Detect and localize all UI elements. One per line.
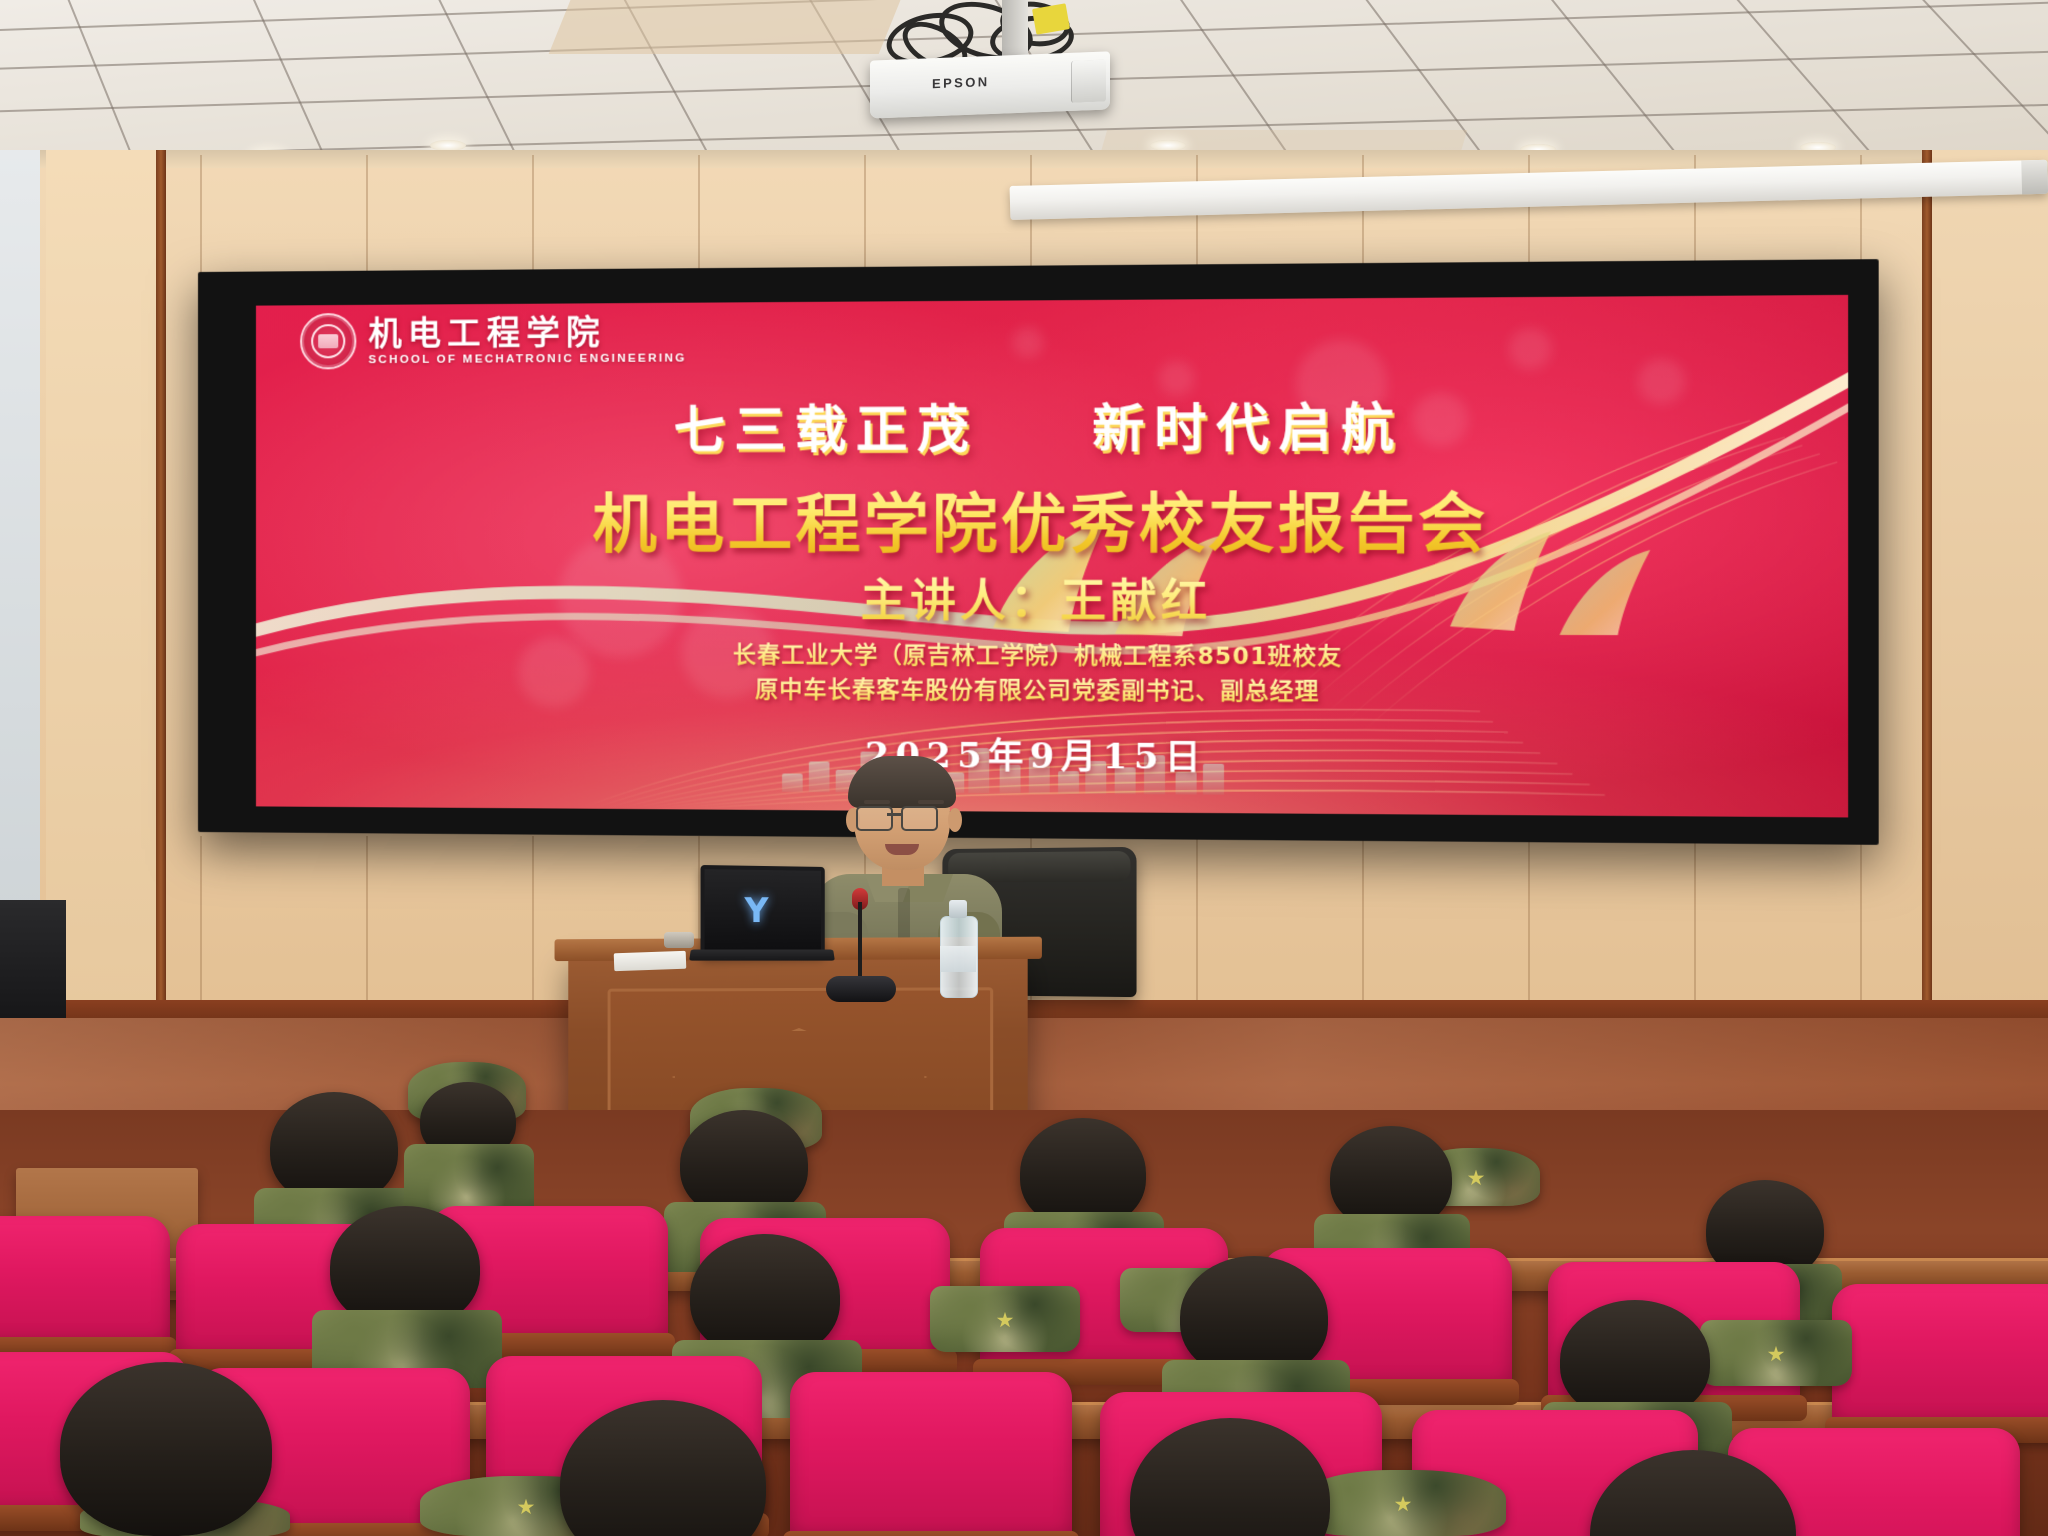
led-display-screen: 机电工程学院 SCHOOL OF MECHATRONIC ENGINEERING… — [198, 259, 1879, 845]
audience-head-foreground — [60, 1362, 272, 1536]
banner-headline: 七三载正茂 新时代启航 — [256, 385, 1848, 464]
banner-main-title: 机电工程学院优秀校友报告会 — [256, 470, 1848, 565]
led-banner-content: 机电工程学院 SCHOOL OF MECHATRONIC ENGINEERING… — [256, 295, 1848, 818]
glasses-lens-left-icon — [856, 806, 893, 831]
star-emblem-icon — [1395, 1496, 1412, 1513]
presenter-eyebrow-right — [918, 800, 944, 804]
laptop-icon[interactable]: Y — [700, 866, 832, 974]
side-doorway — [0, 900, 66, 1028]
star-emblem-icon — [1468, 1170, 1485, 1187]
audience-uniform — [404, 1144, 534, 1214]
desk-small-object — [664, 932, 694, 948]
desk-microphone-icon[interactable] — [852, 888, 868, 984]
water-bottle-icon[interactable] — [940, 900, 976, 996]
laptop-keyboard-base[interactable] — [689, 950, 835, 961]
wood-pillar-left — [156, 150, 166, 1090]
right-wall-panel — [1928, 150, 2048, 1080]
presenter-shirt-placket — [898, 888, 910, 940]
roller-screen-end-cap — [2021, 160, 2048, 195]
banner-subtitle-1: 长春工业大学（原吉林工学院）机械工程系8501班校友 — [256, 636, 1848, 673]
star-emblem-icon — [997, 1312, 1014, 1329]
banner-speaker-line: 主讲人：王献红 — [256, 564, 1848, 631]
glasses-lens-right-icon — [901, 806, 938, 831]
left-glass-panel — [0, 150, 40, 910]
wood-pillar-right — [1922, 150, 1932, 1090]
banner-headline-left: 七三载正茂 — [674, 399, 979, 460]
camouflage-cap-on-desk — [1700, 1320, 1852, 1386]
presenter-ear-right — [948, 808, 962, 832]
banner-text-block: 七三载正茂 新时代启航 机电工程学院优秀校友报告会 主讲人：王献红 长春工业大学… — [256, 295, 1848, 818]
laptop-screen: Y — [700, 865, 824, 957]
microphone-base — [826, 976, 896, 1002]
glasses-bridge-icon — [887, 813, 901, 816]
microphone-stem — [858, 902, 862, 982]
bottle-label — [940, 946, 976, 972]
star-emblem-icon — [1768, 1346, 1785, 1363]
auditorium-seat[interactable] — [790, 1372, 1072, 1536]
camouflage-cap-on-desk — [930, 1286, 1080, 1352]
presenter-eyebrow-left — [864, 800, 890, 804]
star-emblem-icon — [518, 1499, 535, 1516]
projector-mount — [1002, 0, 1028, 60]
banner-headline-right: 新时代启航 — [1092, 397, 1404, 459]
auditorium-seat[interactable] — [0, 1216, 170, 1352]
banner-date: 2025年9月15日 — [256, 724, 1848, 783]
papers-on-desk — [614, 951, 687, 972]
projector-brand-label: EPSON — [932, 74, 990, 91]
laptop-screen-logo: Y — [744, 894, 768, 928]
wall-top-strip — [0, 150, 2048, 168]
projector-lens-icon — [1071, 60, 1106, 103]
lecture-hall-photo: EPSON — [0, 0, 2048, 1536]
banner-subtitle-2: 原中车长春客车股份有限公司党委副书记、副总经理 — [256, 670, 1848, 709]
projector-body: EPSON — [870, 51, 1110, 118]
ceiling-projector: EPSON — [852, 0, 1132, 140]
camouflage-cap — [1300, 1470, 1506, 1536]
auditorium-seat[interactable] — [1832, 1284, 2048, 1432]
bottle-cap — [949, 900, 967, 918]
